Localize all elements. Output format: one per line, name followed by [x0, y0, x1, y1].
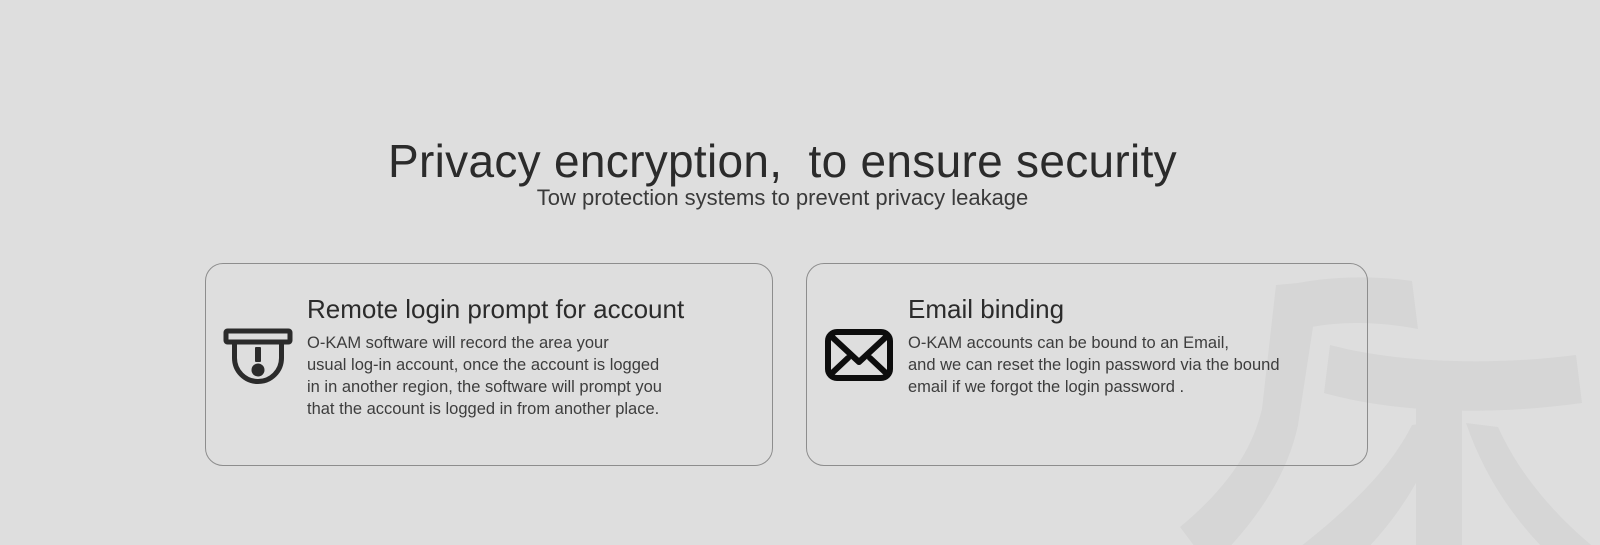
card-body: Remote login prompt for account O-KAM so… — [307, 292, 762, 420]
card-body: Email binding O-KAM accounts can be boun… — [908, 292, 1357, 398]
card-heading: Remote login prompt for account — [307, 292, 762, 326]
card-heading: Email binding — [908, 292, 1357, 326]
page-title: Privacy encryption, to ensure security — [0, 131, 1565, 191]
privacy-encryption-banner: Privacy encryption, to ensure security T… — [0, 0, 1600, 545]
envelope-icon — [824, 314, 894, 384]
card-description: O-KAM accounts can be bound to an Email,… — [908, 332, 1357, 398]
feature-card-email-binding: Email binding O-KAM accounts can be boun… — [806, 263, 1368, 466]
feature-card-remote-login: Remote login prompt for account O-KAM so… — [205, 263, 773, 466]
security-dome-alert-icon — [223, 314, 293, 384]
card-description: O-KAM software will record the area your… — [307, 332, 762, 420]
page-subtitle: Tow protection systems to prevent privac… — [0, 183, 1565, 213]
